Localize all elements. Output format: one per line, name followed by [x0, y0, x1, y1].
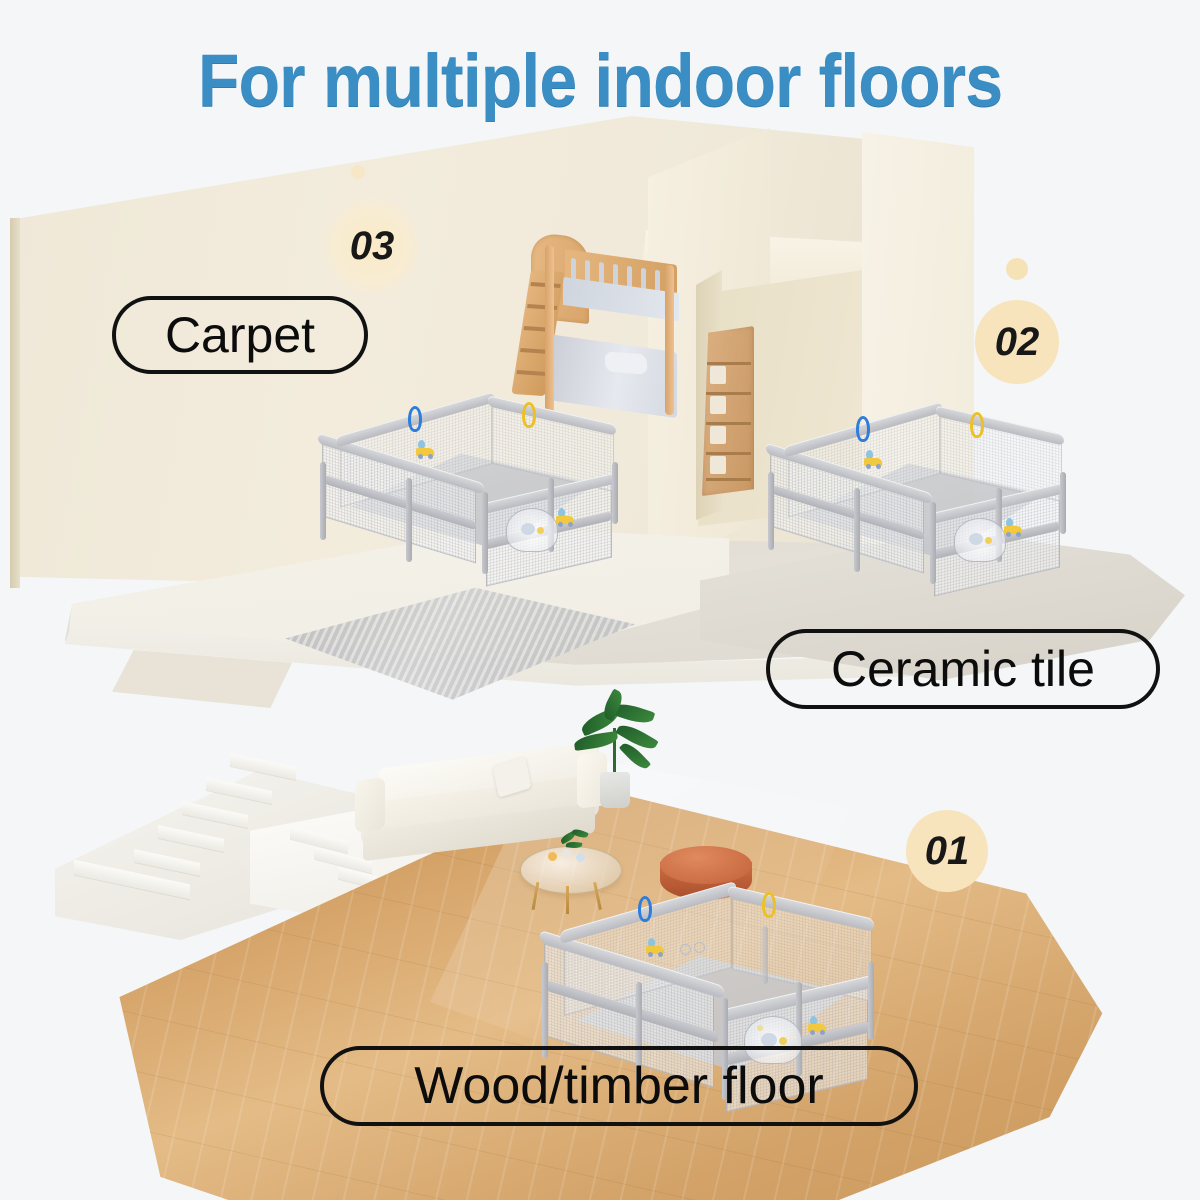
- playpen-clip-blue: [856, 416, 870, 442]
- playpen-clip-yellow: [762, 892, 776, 918]
- label-wood-timber-floor: Wood/timber floor: [320, 1046, 918, 1126]
- plant-pot: [600, 772, 630, 808]
- playpen-clip-yellow: [522, 402, 536, 428]
- callout-dot-02: [1006, 258, 1028, 280]
- playpen-deco-right: [556, 508, 590, 530]
- playpen-deco-right: [1004, 518, 1038, 540]
- playpen-elephant-graphic: [954, 518, 1006, 562]
- label-ceramic-tile: Ceramic tile: [766, 629, 1160, 709]
- playpen-clip-yellow: [970, 412, 984, 438]
- playpen-clip-blue: [638, 896, 652, 922]
- playpen-tile: [758, 410, 1078, 590]
- playpen-deco-left: [646, 938, 680, 960]
- playpen-carpet: [310, 400, 630, 580]
- potted-plant: [568, 698, 668, 818]
- bunk-bed-post-left: [545, 245, 554, 416]
- page-headline: For multiple indoor floors: [48, 38, 1152, 123]
- table-small-plant: [560, 828, 588, 852]
- callout-dot-03: [351, 165, 365, 179]
- playpen-deco-right: [808, 1016, 842, 1038]
- playpen-deco-left: [864, 450, 898, 472]
- playpen-clip-blue: [408, 406, 422, 432]
- playpen-deco-puffs: [680, 942, 710, 960]
- infographic-canvas: For multiple indoor floors: [0, 0, 1200, 1200]
- shelving-unit: [702, 326, 754, 496]
- bunk-bed-post-right: [665, 265, 674, 416]
- playpen-deco-left: [416, 440, 450, 462]
- callout-badge-01: 01: [906, 810, 988, 892]
- back-wall-edge: [10, 218, 20, 588]
- label-carpet: Carpet: [112, 296, 368, 374]
- callout-badge-02: 02: [975, 300, 1059, 384]
- callout-badge-03: 03: [324, 198, 420, 294]
- playpen-elephant-graphic: [506, 508, 558, 552]
